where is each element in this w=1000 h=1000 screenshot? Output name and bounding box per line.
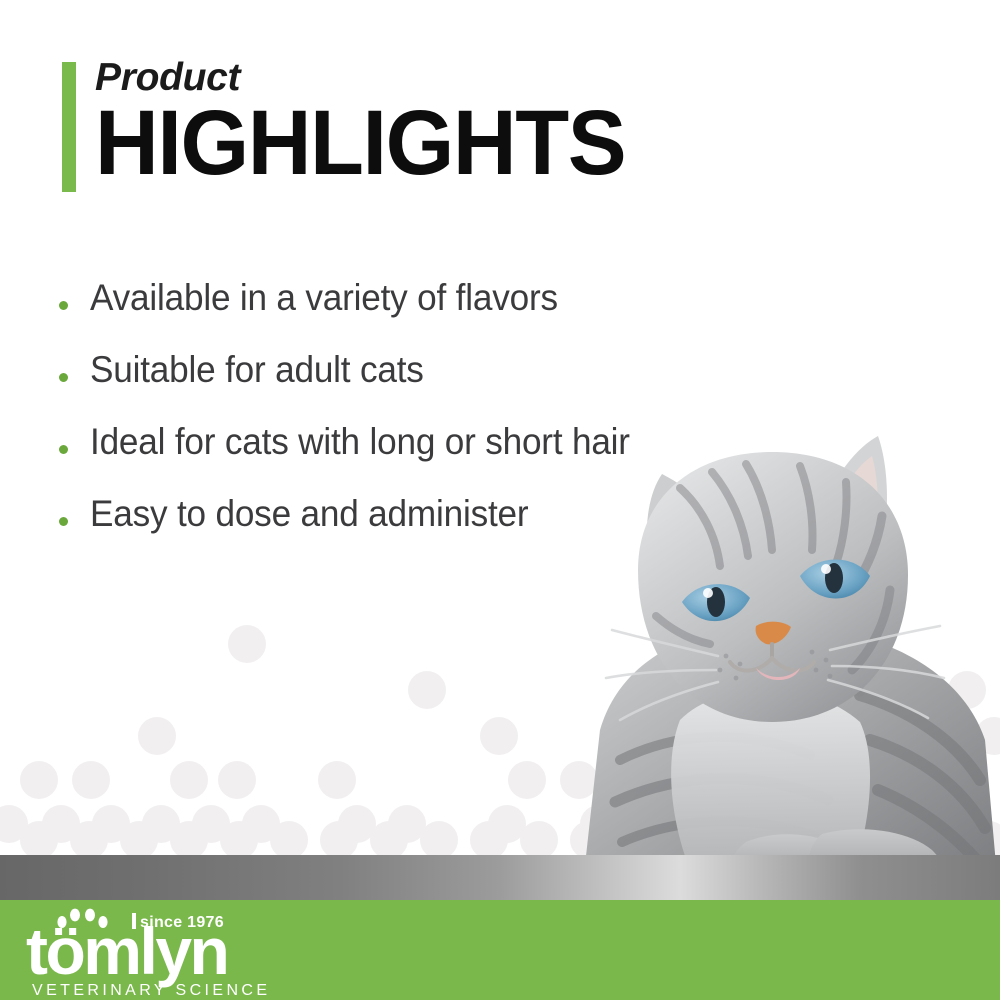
list-item-label: Easy to dose and administer bbox=[90, 488, 528, 540]
page-title: HIGHLIGHTS bbox=[95, 101, 625, 186]
list-item: Available in a variety of flavors bbox=[56, 272, 816, 344]
cat-photo bbox=[560, 430, 1000, 910]
list-item-label: Ideal for cats with long or short hair bbox=[90, 416, 630, 468]
bullet-dot-icon bbox=[59, 373, 68, 382]
header-text-group: Product HIGHLIGHTS bbox=[95, 58, 647, 186]
tomlyn-logo: since 1976 tömlyn VETERINARY SCIENCE bbox=[26, 900, 286, 1000]
bullet-dot-icon bbox=[59, 301, 68, 310]
gray-gradient-divider bbox=[0, 855, 1000, 900]
list-item-label: Available in a variety of flavors bbox=[90, 272, 558, 324]
list-item-label: Suitable for adult cats bbox=[90, 344, 424, 396]
product-highlights-poster: Product HIGHLIGHTS Available in a variet… bbox=[0, 0, 1000, 1000]
bullet-dot-icon bbox=[59, 445, 68, 454]
svg-text:VETERINARY SCIENCE: VETERINARY SCIENCE bbox=[32, 982, 270, 999]
page-header: Product HIGHLIGHTS bbox=[62, 58, 762, 198]
footer-bar: since 1976 tömlyn VETERINARY SCIENCE bbox=[0, 900, 1000, 1000]
green-accent-bar bbox=[62, 62, 76, 192]
bullet-dot-icon bbox=[59, 517, 68, 526]
svg-text:tömlyn: tömlyn bbox=[26, 914, 227, 988]
list-item: Suitable for adult cats bbox=[56, 344, 816, 416]
